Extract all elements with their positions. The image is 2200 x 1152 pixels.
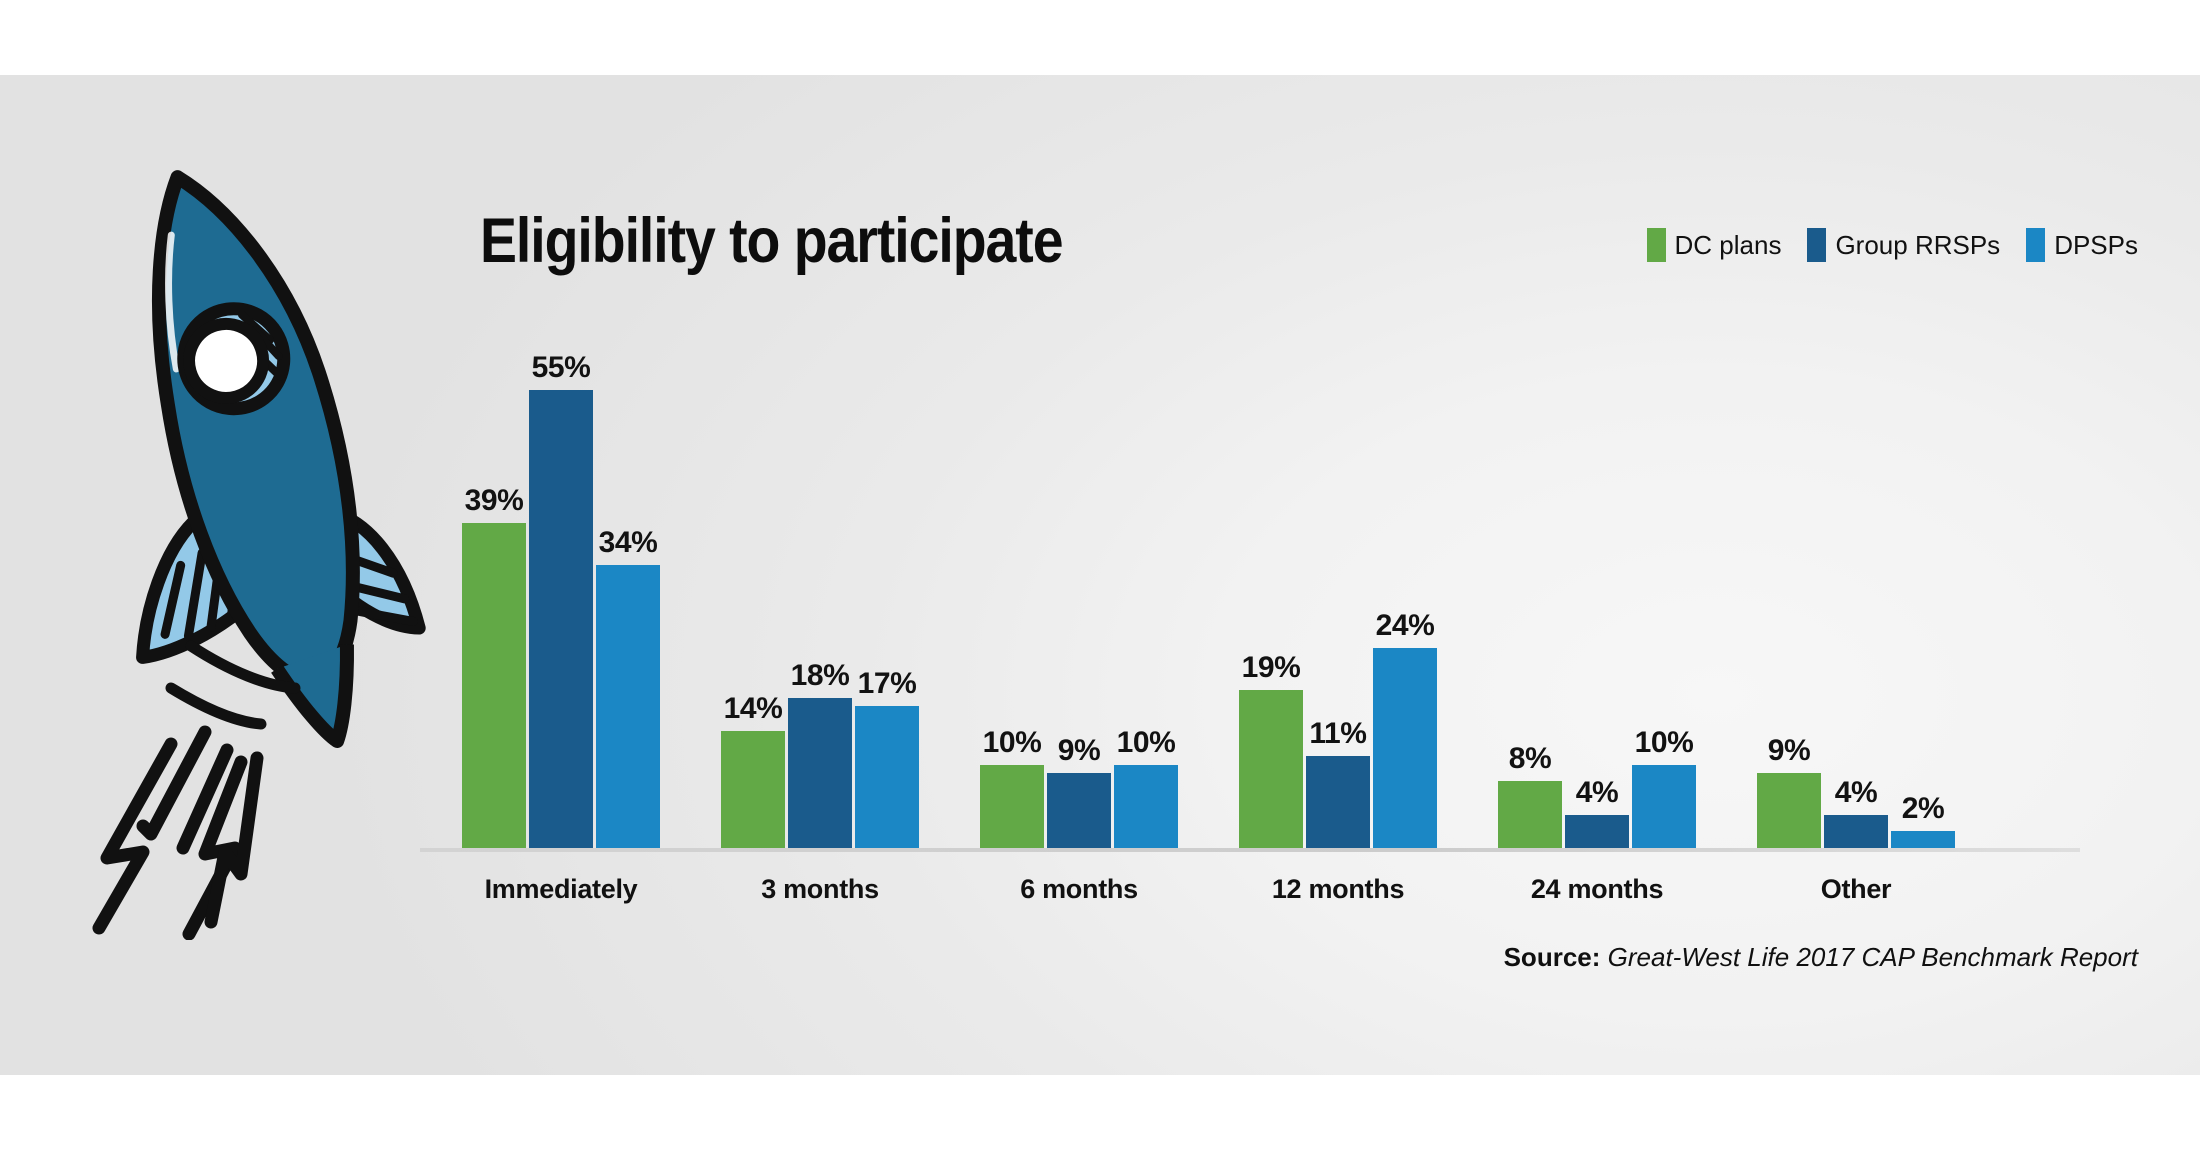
legend-swatch-light-blue xyxy=(2026,228,2045,262)
bar-wrapper: 24% xyxy=(1373,648,1437,848)
bar-value-label: 8% xyxy=(1509,742,1552,776)
bar-value-label: 18% xyxy=(791,659,850,693)
bar-value-label: 10% xyxy=(983,726,1042,760)
bar-value-label: 14% xyxy=(724,692,783,726)
bar-wrapper: 17% xyxy=(855,706,919,848)
bar[interactable] xyxy=(596,565,660,848)
bar-group: 8%4%10%24 months xyxy=(1498,765,1696,848)
slide-canvas: Eligibility to participate DC plans Grou… xyxy=(0,0,2200,1152)
bar-wrapper: 8% xyxy=(1498,781,1562,848)
bar[interactable] xyxy=(980,765,1044,848)
bar-wrapper: 4% xyxy=(1824,815,1888,848)
category-label: 6 months xyxy=(1020,874,1138,905)
bar-wrapper: 4% xyxy=(1565,815,1629,848)
source-note: Source: Great-West Life 2017 CAP Benchma… xyxy=(1504,942,2138,973)
bar-value-label: 4% xyxy=(1576,776,1619,810)
bar-group: 14%18%17%3 months xyxy=(721,698,919,848)
bar-wrapper: 34% xyxy=(596,565,660,848)
bar[interactable] xyxy=(529,390,593,848)
bar[interactable] xyxy=(1498,781,1562,848)
bar-group: 19%11%24%12 months xyxy=(1239,648,1437,848)
bar-group: 39%55%34%Immediately xyxy=(462,390,660,848)
bar-value-label: 9% xyxy=(1768,734,1811,768)
bar-wrapper: 11% xyxy=(1306,756,1370,848)
bar-wrapper: 9% xyxy=(1047,773,1111,848)
bar-wrapper: 10% xyxy=(980,765,1044,848)
bar[interactable] xyxy=(1891,831,1955,848)
bar[interactable] xyxy=(1239,690,1303,848)
bar-value-label: 10% xyxy=(1635,726,1694,760)
bar-wrapper: 9% xyxy=(1757,773,1821,848)
bar-wrapper: 19% xyxy=(1239,690,1303,848)
bar-value-label: 17% xyxy=(858,667,917,701)
legend-item-dpsps[interactable]: DPSPs xyxy=(2026,228,2138,262)
bar[interactable] xyxy=(1047,773,1111,848)
bar-value-label: 9% xyxy=(1058,734,1101,768)
bar-value-label: 11% xyxy=(1309,717,1366,751)
legend-label-group-rrsps: Group RRSPs xyxy=(1835,230,2000,261)
category-label: Immediately xyxy=(485,874,638,905)
bar[interactable] xyxy=(855,706,919,848)
category-label: 3 months xyxy=(761,874,879,905)
bar-wrapper: 18% xyxy=(788,698,852,848)
bar-wrapper: 10% xyxy=(1632,765,1696,848)
bar[interactable] xyxy=(1632,765,1696,848)
bar-value-label: 55% xyxy=(532,351,591,385)
category-label: 24 months xyxy=(1531,874,1663,905)
bar-group: 10%9%10%6 months xyxy=(980,765,1178,848)
bar[interactable] xyxy=(721,731,785,848)
chart-legend: DC plans Group RRSPs DPSPs xyxy=(1647,228,2138,262)
bar[interactable] xyxy=(1824,815,1888,848)
bar-value-label: 24% xyxy=(1376,609,1435,643)
bar-wrapper: 14% xyxy=(721,731,785,848)
chart-title: Eligibility to participate xyxy=(480,210,1062,273)
category-label: Other xyxy=(1821,874,1892,905)
bar-value-label: 2% xyxy=(1902,792,1945,826)
bar[interactable] xyxy=(788,698,852,848)
bar[interactable] xyxy=(1114,765,1178,848)
legend-label-dpsps: DPSPs xyxy=(2054,230,2138,261)
legend-swatch-green xyxy=(1647,228,1666,262)
bar-value-label: 4% xyxy=(1835,776,1878,810)
legend-item-dc-plans[interactable]: DC plans xyxy=(1647,228,1782,262)
bar-value-label: 10% xyxy=(1117,726,1176,760)
rocket-illustration xyxy=(45,110,445,940)
bar-wrapper: 2% xyxy=(1891,831,1955,848)
source-text: Great-West Life 2017 CAP Benchmark Repor… xyxy=(1608,942,2138,972)
legend-item-group-rrsps[interactable]: Group RRSPs xyxy=(1807,228,2000,262)
axis-baseline xyxy=(420,848,2080,852)
bar-group: 9%4%2%Other xyxy=(1757,773,1955,848)
bar[interactable] xyxy=(1306,756,1370,848)
legend-swatch-dark-blue xyxy=(1807,228,1826,262)
category-label: 12 months xyxy=(1272,874,1404,905)
bar[interactable] xyxy=(1373,648,1437,848)
bar[interactable] xyxy=(1757,773,1821,848)
bar-wrapper: 39% xyxy=(462,523,526,848)
bar-value-label: 39% xyxy=(465,484,524,518)
bar-wrapper: 10% xyxy=(1114,765,1178,848)
bar-value-label: 34% xyxy=(599,526,658,560)
source-prefix: Source: xyxy=(1504,942,1601,972)
bar-chart: Eligibility to participate DC plans Grou… xyxy=(440,130,2160,1010)
legend-label-dc-plans: DC plans xyxy=(1675,230,1782,261)
bar[interactable] xyxy=(462,523,526,848)
bar-wrapper: 55% xyxy=(529,390,593,848)
plot-area: 39%55%34%Immediately14%18%17%3 months10%… xyxy=(440,290,2160,852)
bar-value-label: 19% xyxy=(1242,651,1301,685)
bar[interactable] xyxy=(1565,815,1629,848)
